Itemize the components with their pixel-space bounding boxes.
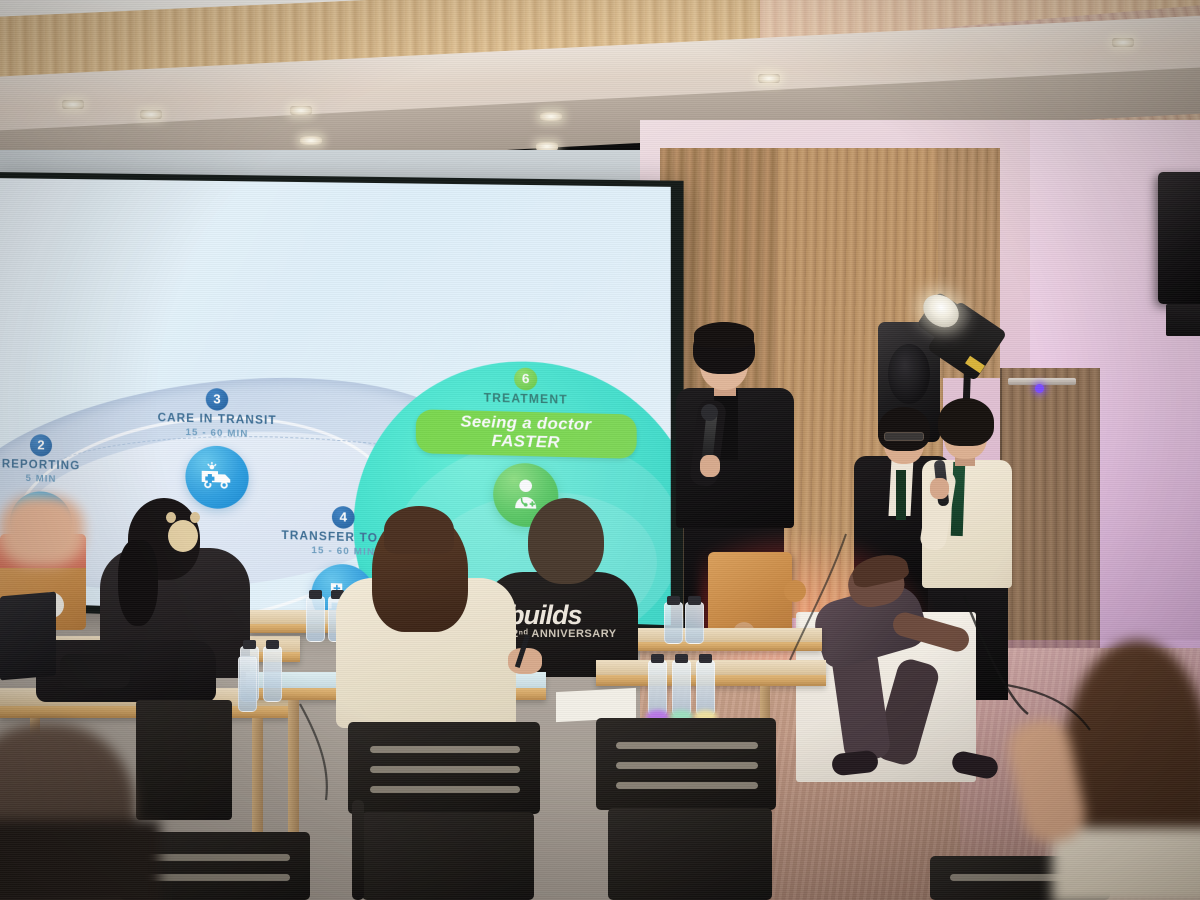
step-duration: 5 MIN: [0, 472, 96, 486]
step-title: REPORTING: [0, 457, 96, 474]
ambulance-icon: [185, 445, 248, 509]
bottle-cap: [651, 654, 664, 663]
chair-slot: [370, 766, 520, 773]
presenter-2-tie: [896, 470, 906, 520]
water-bottle: [685, 602, 704, 644]
presenter-1-hand: [700, 455, 720, 477]
step-number: 4: [332, 506, 355, 529]
slide-step-care-in-transit: 3 CARE IN TRANSIT 15 - 60 MIN: [141, 387, 294, 512]
wooden-door: [1000, 368, 1100, 680]
puzzle-piece-cutout: [708, 552, 792, 634]
bottle-cap: [243, 640, 256, 649]
teddy-bear-ear: [166, 512, 176, 523]
slide-step-treatment: 6 TREATMENT Seeing a doctor FASTER: [416, 365, 637, 530]
water-bottle: [238, 656, 257, 712]
step-number: 2: [30, 434, 52, 457]
wall-speaker: [1158, 172, 1200, 304]
chair-slot: [142, 854, 290, 861]
audience-2-head: [384, 506, 454, 554]
ceiling-downlight: [540, 112, 562, 121]
ceiling-downlight: [300, 136, 322, 145]
stage-side-table: [612, 628, 822, 642]
laptop: [0, 592, 56, 681]
step-number: 6: [514, 367, 537, 390]
ceiling-downlight: [290, 106, 312, 115]
bottle-cap: [309, 590, 322, 599]
photo-scene: 2 REPORTING 5 MIN 911 3 CARE IN TRANSIT …: [0, 0, 1200, 900]
ceiling-downlight: [62, 100, 84, 109]
audience-3-head: [528, 498, 604, 584]
water-bottle-lit: [696, 660, 715, 716]
chair-slot: [616, 742, 758, 749]
treatment-highlight-pill: Seeing a doctor FASTER: [416, 410, 637, 460]
bottle-cap: [667, 596, 680, 605]
wall-speaker-mount: [1166, 304, 1200, 336]
door-led-indicator-icon: [1035, 384, 1044, 393]
water-bottle-lit: [672, 660, 691, 716]
chair-backrest: [348, 722, 540, 814]
audience-6-hand: [0, 496, 84, 566]
puzzle-piece-knob: [784, 580, 806, 602]
chair-backrest: [596, 718, 776, 810]
audience-1-ponytail: [118, 540, 158, 626]
presenter-2-hair: [878, 407, 930, 451]
presenter-3-hair: [938, 398, 994, 446]
water-bottle: [664, 602, 683, 644]
stage-side-table-edge: [612, 642, 822, 651]
chair-seat: [608, 808, 772, 900]
microphone-head-icon: [701, 404, 718, 421]
audience-4-shoulder: [1052, 828, 1200, 900]
chair-slot: [370, 746, 520, 753]
chair-slot: [616, 762, 758, 769]
bottle-cap: [266, 640, 279, 649]
step-title: TREATMENT: [416, 390, 637, 410]
ceiling-downlight: [1112, 38, 1134, 47]
bottle-cap: [688, 596, 701, 605]
audience-5-shoulder: [0, 820, 160, 900]
notepad: [556, 688, 636, 722]
chair-slot: [370, 786, 520, 793]
chair-slot: [616, 782, 758, 789]
glasses-icon: [884, 432, 924, 441]
shirt-tagline-text: 2ⁿᵈ ANNIVERSARY: [512, 628, 642, 642]
water-bottle: [306, 596, 325, 642]
presenter-1-fringe: [694, 322, 754, 348]
audience-2-hand: [508, 648, 542, 674]
presenter-3-hand: [930, 478, 949, 499]
water-bottle-lit: [648, 660, 667, 716]
backpack-pocket: [60, 654, 130, 688]
ceiling-downlight: [140, 110, 162, 119]
chair-seat: [362, 812, 534, 900]
chair-slot: [142, 874, 290, 881]
ceiling-downlight: [758, 74, 780, 83]
teddy-bear-prop: [168, 520, 198, 552]
teddy-bear-ear: [190, 512, 200, 523]
bottle-cap: [675, 654, 688, 663]
chair-leg: [352, 800, 364, 900]
shirt-brand-text: builds: [508, 600, 628, 628]
water-bottle: [263, 646, 282, 702]
pa-speaker-cone-icon: [888, 344, 930, 404]
bottle-cap: [699, 654, 712, 663]
step-number: 3: [206, 388, 228, 411]
chair-back-row: [136, 700, 232, 820]
